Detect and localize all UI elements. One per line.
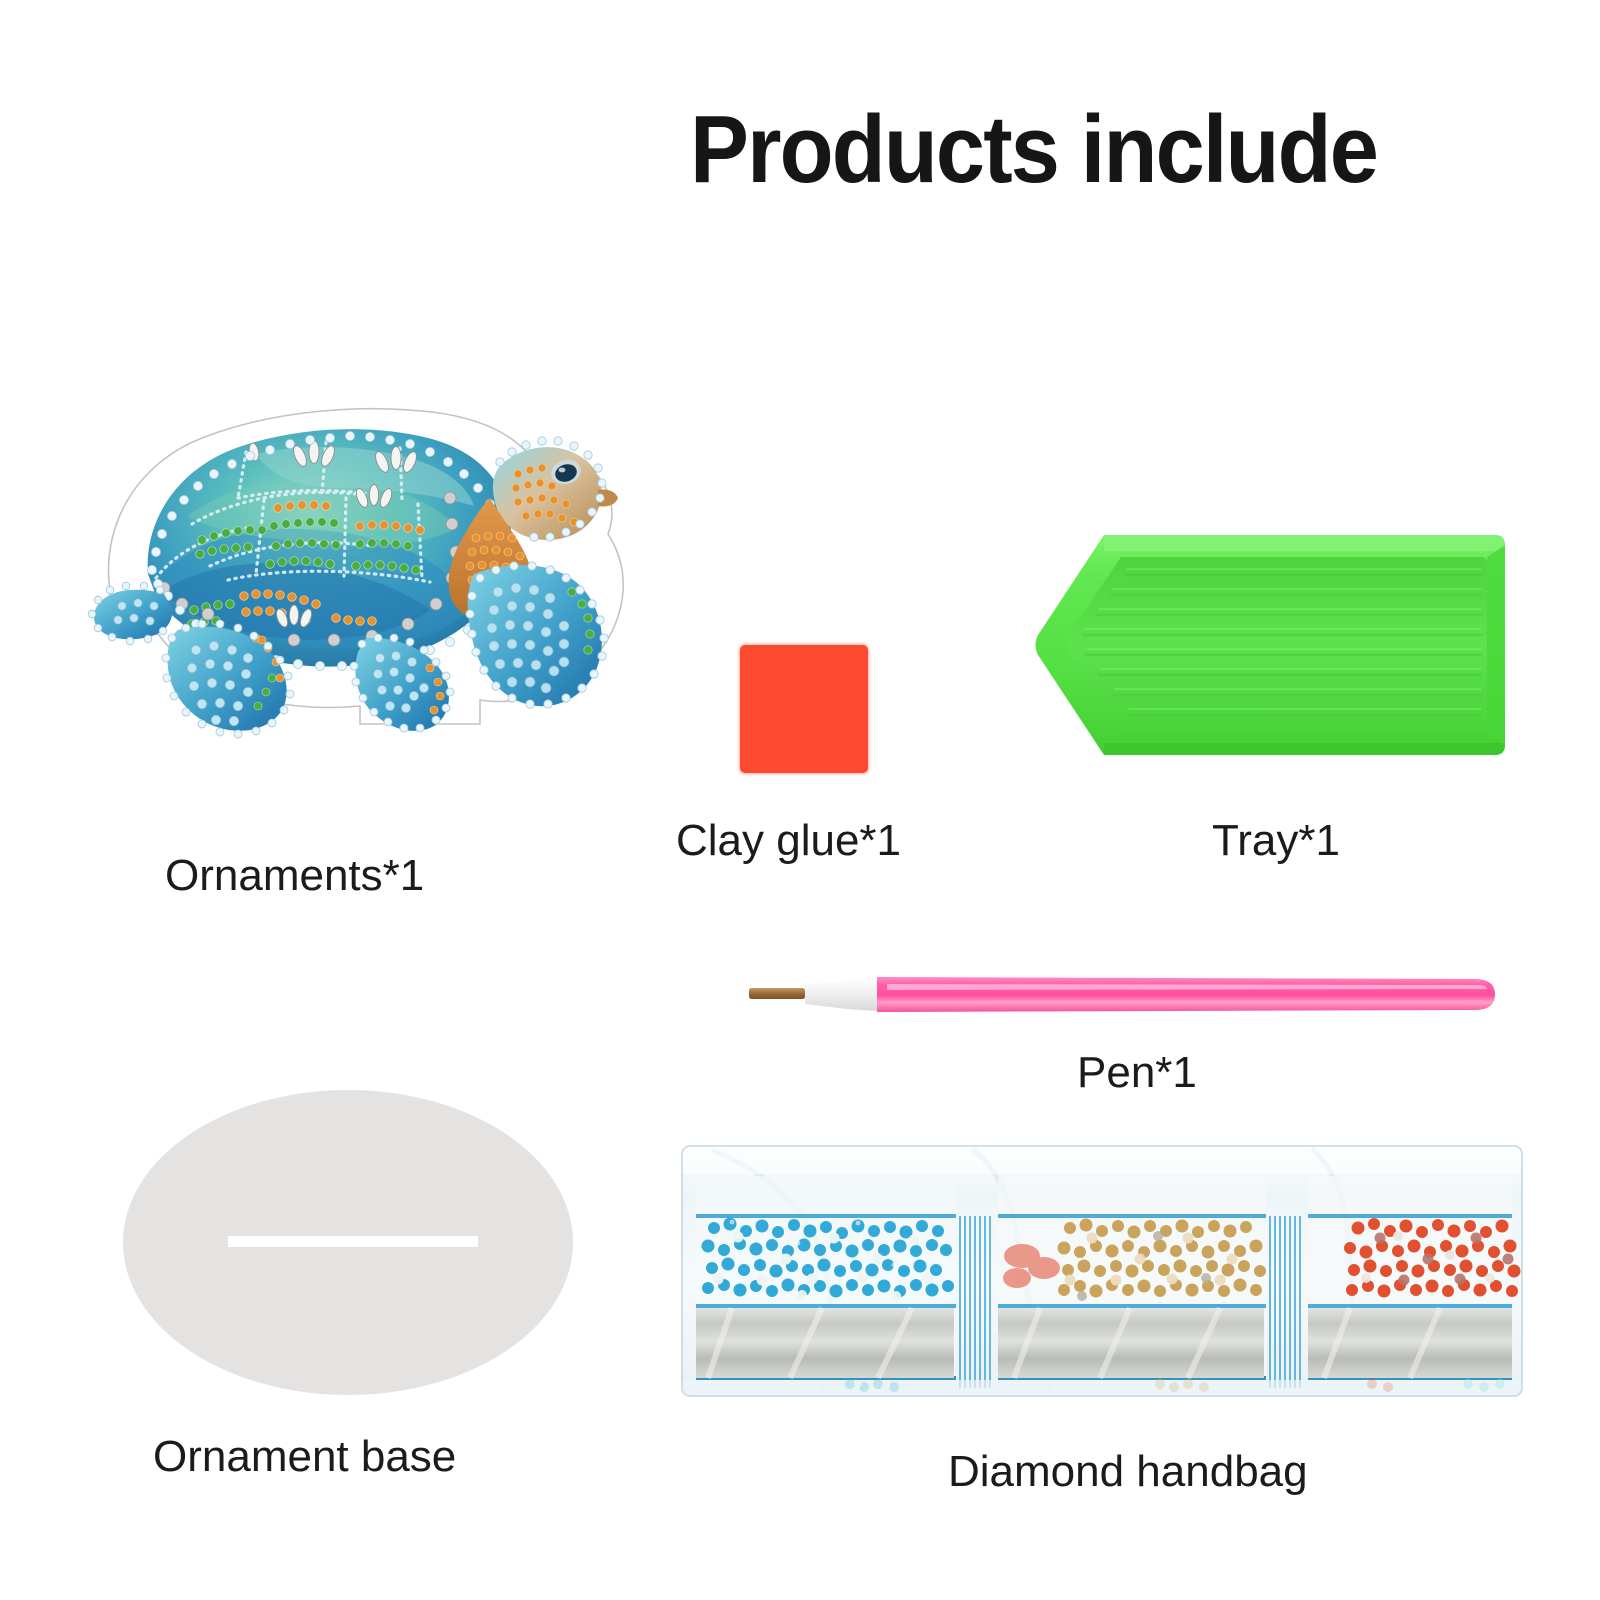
ornament-base-icon — [123, 1090, 573, 1395]
diamond-handbag-icon — [672, 1128, 1532, 1413]
page-title: Products include — [690, 100, 1500, 201]
ornaments-label: Ornaments*1 — [165, 851, 424, 901]
clay-glue-label: Clay glue*1 — [676, 816, 901, 866]
tray-label: Tray*1 — [1212, 816, 1340, 866]
clay-glue-icon — [740, 645, 868, 773]
tray-icon — [975, 495, 1520, 795]
pen-label: Pen*1 — [1077, 1048, 1197, 1098]
ornament-base-label: Ornament base — [153, 1432, 456, 1482]
diamond-handbag-label: Diamond handbag — [948, 1447, 1308, 1497]
product-include-poster: Products include — [0, 0, 1600, 1600]
base-slot — [228, 1236, 478, 1247]
sea-turtle-ornament-icon — [60, 338, 640, 758]
pen-icon — [735, 965, 1500, 1025]
